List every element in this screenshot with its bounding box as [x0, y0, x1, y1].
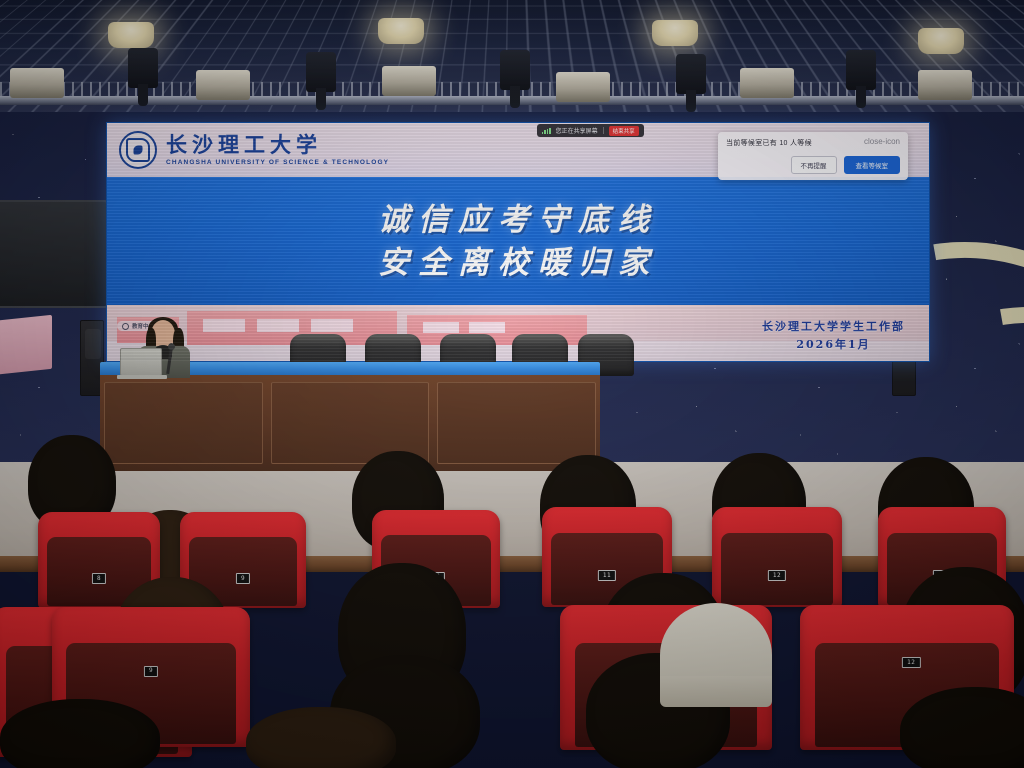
table-panel	[104, 382, 263, 464]
slide-title-area: 诚信应考守底线 安全离校暖归家	[107, 177, 929, 307]
ceiling-lamp	[378, 18, 424, 44]
dont-remind-button[interactable]: 不再提醒	[791, 156, 837, 174]
beanie-hat	[660, 603, 772, 707]
seat-cushion	[721, 533, 833, 605]
signal-bars-icon	[542, 128, 551, 134]
stage-spotlight	[846, 50, 876, 90]
audience-seating: 8 9 10 11 12 13	[0, 455, 1024, 768]
seat-number-plate: 9	[236, 573, 250, 584]
table-panel	[437, 382, 596, 464]
toast-text: 您正在共享屏幕	[556, 126, 598, 135]
seat-number-plate: 9	[144, 666, 158, 677]
stop-share-button[interactable]: 结束共享	[609, 126, 639, 136]
university-name-block: 长沙理工大学 CHANGSHA UNIVERSITY OF SCIENCE & …	[166, 134, 389, 165]
stage-light-housing	[10, 68, 64, 98]
stage-spotlight	[676, 54, 706, 94]
seat-12[interactable]: 12	[712, 507, 842, 607]
stage-light-housing	[382, 66, 436, 96]
seat-number-plate: 12	[902, 657, 920, 668]
audience-head	[246, 707, 396, 768]
presenter-laptop	[120, 348, 162, 376]
popup-button-row: 不再提醒 查看等候室	[726, 156, 900, 174]
university-name-cn: 长沙理工大学	[166, 134, 389, 156]
side-monitor	[0, 200, 108, 308]
screen-share-toast[interactable]: 您正在共享屏幕 结束共享	[537, 124, 644, 137]
slide-subtitle-org: 长沙理工大学学生工作部	[762, 318, 905, 334]
view-waiting-room-button[interactable]: 查看等候室	[844, 156, 901, 174]
toast-divider	[603, 127, 604, 134]
stage-spotlight	[128, 48, 158, 88]
stage-light-housing	[740, 68, 794, 98]
audience-head	[0, 699, 160, 768]
slide-subtitle: 长沙理工大学学生工作部 2026年1月	[762, 318, 905, 352]
stage-spotlight	[306, 52, 336, 92]
auditorium-scene: 长沙理工大学 CHANGSHA UNIVERSITY OF SCIENCE & …	[0, 0, 1024, 768]
stage-light-housing	[918, 70, 972, 100]
pink-podium	[0, 315, 52, 375]
photo-window	[257, 319, 299, 332]
photo-window	[469, 322, 505, 333]
slide-title-line-2: 安全离校暖归家	[378, 242, 658, 285]
popup-message-row: 当前等候室已有 10 人等候 close-icon	[726, 138, 900, 148]
ceiling	[0, 0, 1024, 118]
watermark-dot-icon	[122, 323, 129, 330]
ceiling-lamp	[918, 28, 964, 54]
seat-number-plate: 12	[768, 570, 786, 581]
close-icon[interactable]: close-icon	[864, 138, 900, 146]
photo-window	[203, 319, 245, 332]
ceiling-lamp	[108, 22, 154, 48]
ceiling-lamp	[652, 20, 698, 46]
slide-title-line-1: 诚信应考守底线	[378, 199, 658, 242]
university-logo-icon	[119, 131, 157, 169]
seat-number-plate: 8	[92, 573, 106, 584]
stage-light-housing	[556, 72, 610, 102]
seat-number-plate: 11	[598, 570, 616, 581]
waiting-room-popup[interactable]: 当前等候室已有 10 人等候 close-icon 不再提醒 查看等候室	[718, 132, 908, 180]
popup-message: 当前等候室已有 10 人等候	[726, 138, 812, 148]
stage-spotlight	[500, 50, 530, 90]
university-name-en: CHANGSHA UNIVERSITY OF SCIENCE & TECHNOL…	[166, 159, 389, 166]
slide-subtitle-date: 2026年1月	[762, 336, 905, 352]
photo-window	[311, 319, 353, 332]
photo-window	[423, 322, 459, 333]
stage-light-housing	[196, 70, 250, 100]
